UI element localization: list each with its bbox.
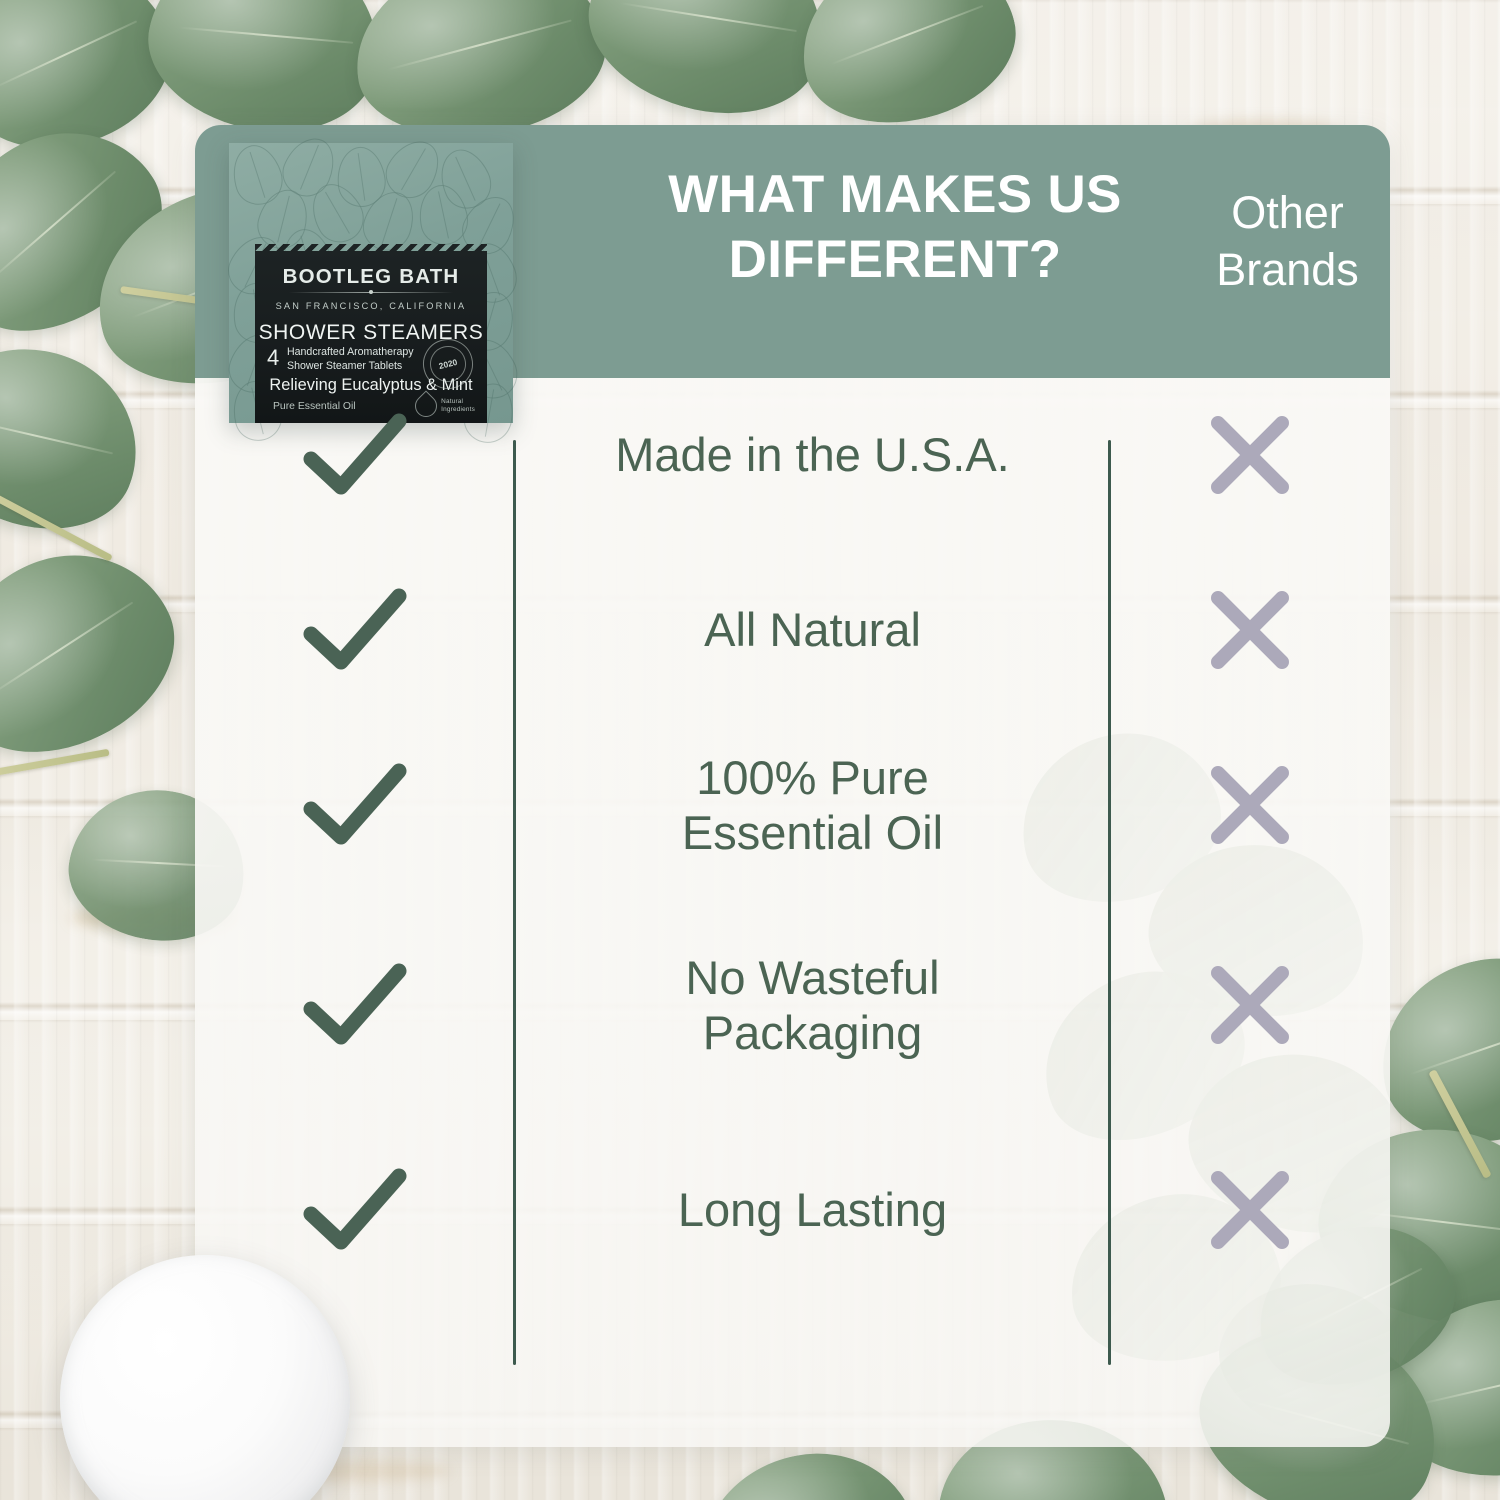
x-mark-icon: [1206, 761, 1294, 849]
feature-label: 100% PureEssential Oil: [682, 750, 943, 861]
feature-line: Made in the U.S.A.: [615, 427, 1009, 482]
checkmark-icon: [301, 584, 409, 676]
feature-cell: All Natural: [515, 602, 1110, 657]
product-quantity: 4: [267, 347, 279, 369]
feature-label: Made in the U.S.A.: [615, 427, 1009, 482]
feature-cell: Made in the U.S.A.: [515, 427, 1110, 482]
other-brands-cell: [1110, 586, 1390, 674]
checkmark-icon: [301, 1164, 409, 1256]
brand-divider: [289, 292, 453, 293]
feature-cell: Long Lasting: [515, 1182, 1110, 1237]
other-brands-cell: [1110, 411, 1390, 499]
qty-desc-line-2: Shower Steamer Tablets: [287, 360, 414, 374]
x-mark-icon: [1206, 1166, 1294, 1254]
brand-name: BOOTLEG BATH: [255, 265, 487, 289]
label-zigzag-edge: [255, 244, 487, 252]
feature-cell: 100% PureEssential Oil: [515, 750, 1110, 861]
feature-line: All Natural: [704, 602, 921, 657]
other-brands-cell: [1110, 1166, 1390, 1254]
feature-line: 100% Pure: [682, 750, 943, 805]
other-brands-line-1: Other: [1180, 185, 1390, 242]
other-brands-column-header: Other Brands: [1180, 185, 1390, 298]
our-brand-cell: [195, 584, 515, 676]
page-title-line-2: DIFFERENT?: [615, 228, 1175, 293]
comparison-row: All Natural: [195, 555, 1390, 705]
feature-line: Essential Oil: [682, 805, 943, 860]
infographic-canvas: WHAT MAKES US DIFFERENT? Other Brands: [0, 0, 1500, 1500]
page-title: WHAT MAKES US DIFFERENT?: [615, 163, 1175, 292]
checkmark-icon: [301, 759, 409, 851]
qty-desc-line-1: Handcrafted Aromatherapy: [287, 346, 414, 360]
brand-city: SAN FRANCISCO, CALIFORNIA: [255, 301, 487, 311]
x-mark-icon: [1206, 586, 1294, 674]
feature-line: No Wasteful: [685, 950, 939, 1005]
comparison-card: WHAT MAKES US DIFFERENT? Other Brands: [195, 125, 1390, 1447]
comparison-row: Long Lasting: [195, 1135, 1390, 1285]
x-mark-icon: [1206, 961, 1294, 1049]
feature-line: Packaging: [685, 1005, 939, 1060]
comparison-row: 100% PureEssential Oil: [195, 730, 1390, 880]
our-brand-cell: [195, 759, 515, 851]
other-brands-cell: [1110, 761, 1390, 849]
other-brands-line-2: Brands: [1180, 242, 1390, 299]
our-brand-cell: [195, 1164, 515, 1256]
other-brands-cell: [1110, 961, 1390, 1049]
card-header-bar: WHAT MAKES US DIFFERENT? Other Brands: [195, 125, 1390, 378]
comparison-row: No WastefulPackaging: [195, 930, 1390, 1080]
x-mark-icon: [1206, 411, 1294, 499]
feature-label: Long Lasting: [678, 1182, 947, 1237]
checkmark-icon: [301, 409, 409, 501]
feature-label: No WastefulPackaging: [685, 950, 939, 1061]
comparison-row: Made in the U.S.A.: [195, 380, 1390, 530]
feature-cell: No WastefulPackaging: [515, 950, 1110, 1061]
checkmark-icon: [301, 959, 409, 1051]
feature-line: Long Lasting: [678, 1182, 947, 1237]
feature-label: All Natural: [704, 602, 921, 657]
product-quantity-description: Handcrafted Aromatherapy Shower Steamer …: [287, 346, 414, 374]
page-title-line-1: WHAT MAKES US: [615, 163, 1175, 228]
our-brand-cell: [195, 959, 515, 1051]
our-brand-cell: [195, 409, 515, 501]
